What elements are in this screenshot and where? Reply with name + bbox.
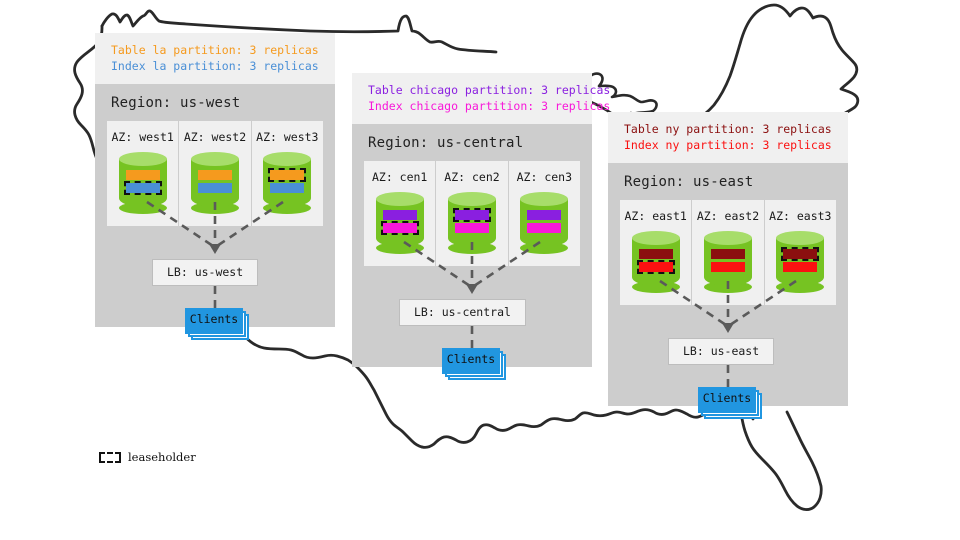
gulf-coast-path: [422, 410, 741, 448]
clients-label-us-east[interactable]: Clients: [698, 387, 756, 413]
legend: leaseholder: [99, 450, 196, 464]
load-balancer-us-west[interactable]: LB: us-west: [152, 259, 258, 286]
table-replica-bar-leaseholder: [783, 249, 817, 259]
clients-stack-us-west[interactable]: Clients: [185, 308, 243, 334]
cylinder-top-ellipse: [448, 192, 496, 206]
load-balancer-us-central[interactable]: LB: us-central: [399, 299, 526, 326]
cylinder-top-ellipse: [119, 152, 167, 166]
az-label-east2: AZ: east2: [692, 209, 763, 223]
table-replica-bar: [711, 249, 745, 259]
az-cell-west3[interactable]: AZ: west3: [251, 121, 323, 226]
table-replica-bar-leaseholder: [270, 170, 304, 180]
region-panel-us-west: Region: us-west AZ: west1 AZ: west2: [95, 84, 335, 327]
partition-header-us-central: Table chicago partition: 3 replicas Inde…: [352, 73, 592, 124]
region-cluster-us-central: Table chicago partition: 3 replicas Inde…: [352, 73, 592, 367]
node-cylinder-west2[interactable]: [191, 152, 239, 214]
table-replica-bar: [527, 210, 561, 220]
clients-label-us-central[interactable]: Clients: [442, 348, 500, 374]
az-label-cen2: AZ: cen2: [436, 170, 507, 184]
az-cell-cen3[interactable]: AZ: cen3: [508, 161, 580, 266]
node-cylinder-west1[interactable]: [119, 152, 167, 214]
az-row-us-west: AZ: west1 AZ: west2: [107, 121, 323, 226]
az-label-west1: AZ: west1: [107, 130, 178, 144]
cylinder-top-ellipse: [776, 231, 824, 245]
index-replica-bar-leaseholder: [126, 183, 160, 193]
partition-header-us-east: Table ny partition: 3 replicas Index ny …: [608, 112, 848, 163]
node-cylinder-east3[interactable]: [776, 231, 824, 293]
clients-stack-us-central[interactable]: Clients: [442, 348, 500, 374]
cylinder-top-ellipse: [632, 231, 680, 245]
az-cell-east2[interactable]: AZ: east2: [691, 200, 763, 305]
az-cell-cen1[interactable]: AZ: cen1: [364, 161, 435, 266]
index-replica-bar-leaseholder: [383, 223, 417, 233]
az-cell-west2[interactable]: AZ: west2: [178, 121, 250, 226]
index-replica-bar-leaseholder: [639, 262, 673, 272]
az-row-us-central: AZ: cen1 AZ: cen2: [364, 161, 580, 266]
clients-stack-us-east[interactable]: Clients: [698, 387, 756, 413]
florida-path: [741, 412, 821, 510]
region-panel-us-east: Region: us-east AZ: east1 AZ: east2: [608, 163, 848, 406]
node-cylinder-cen3[interactable]: [520, 192, 568, 254]
index-replica-bar: [455, 223, 489, 233]
az-label-east3: AZ: east3: [765, 209, 836, 223]
partition-index-line: Index ny partition: 3 replicas: [624, 137, 832, 153]
cylinder-top-ellipse: [704, 231, 752, 245]
az-label-east1: AZ: east1: [620, 209, 691, 223]
cylinder-top-ellipse: [376, 192, 424, 206]
table-replica-bar: [198, 170, 232, 180]
az-cell-east3[interactable]: AZ: east3: [764, 200, 836, 305]
load-balancer-us-east[interactable]: LB: us-east: [668, 338, 774, 365]
region-cluster-us-east: Table ny partition: 3 replicas Index ny …: [608, 112, 848, 406]
az-cell-east1[interactable]: AZ: east1: [620, 200, 691, 305]
index-replica-bar: [198, 183, 232, 193]
index-replica-bar: [783, 262, 817, 272]
table-replica-bar: [639, 249, 673, 259]
dashed-rectangle-icon: [99, 452, 121, 463]
cylinder-top-ellipse: [263, 152, 311, 166]
node-cylinder-east2[interactable]: [704, 231, 752, 293]
az-label-west2: AZ: west2: [179, 130, 250, 144]
az-row-us-east: AZ: east1 AZ: east2: [620, 200, 836, 305]
index-replica-bar: [270, 183, 304, 193]
index-replica-bar: [527, 223, 561, 233]
region-panel-us-central: Region: us-central AZ: cen1 AZ: cen2: [352, 124, 592, 367]
cylinder-top-ellipse: [191, 152, 239, 166]
partition-index-line: Index la partition: 3 replicas: [111, 58, 319, 74]
legend-label: leaseholder: [128, 450, 196, 464]
table-replica-bar-leaseholder: [455, 210, 489, 220]
partition-table-line: Table ny partition: 3 replicas: [624, 121, 832, 137]
region-title-us-east: Region: us-east: [608, 163, 848, 200]
clients-label-us-west[interactable]: Clients: [185, 308, 243, 334]
az-cell-west1[interactable]: AZ: west1: [107, 121, 178, 226]
region-title-us-west: Region: us-west: [95, 84, 335, 121]
az-label-cen1: AZ: cen1: [364, 170, 435, 184]
node-cylinder-east1[interactable]: [632, 231, 680, 293]
diagram-canvas: Table la partition: 3 replicas Index la …: [0, 0, 960, 540]
partition-table-line: Table chicago partition: 3 replicas: [368, 82, 576, 98]
region-cluster-us-west: Table la partition: 3 replicas Index la …: [95, 33, 335, 327]
partition-table-line: Table la partition: 3 replicas: [111, 42, 319, 58]
region-title-us-central: Region: us-central: [352, 124, 592, 161]
node-cylinder-cen1[interactable]: [376, 192, 424, 254]
table-replica-bar: [383, 210, 417, 220]
az-label-west3: AZ: west3: [252, 130, 323, 144]
partition-index-line: Index chicago partition: 3 replicas: [368, 98, 576, 114]
partition-header-us-west: Table la partition: 3 replicas Index la …: [95, 33, 335, 84]
az-cell-cen2[interactable]: AZ: cen2: [435, 161, 507, 266]
node-cylinder-west3[interactable]: [263, 152, 311, 214]
table-replica-bar: [126, 170, 160, 180]
index-replica-bar: [711, 262, 745, 272]
az-label-cen3: AZ: cen3: [509, 170, 580, 184]
node-cylinder-cen2[interactable]: [448, 192, 496, 254]
cylinder-top-ellipse: [520, 192, 568, 206]
